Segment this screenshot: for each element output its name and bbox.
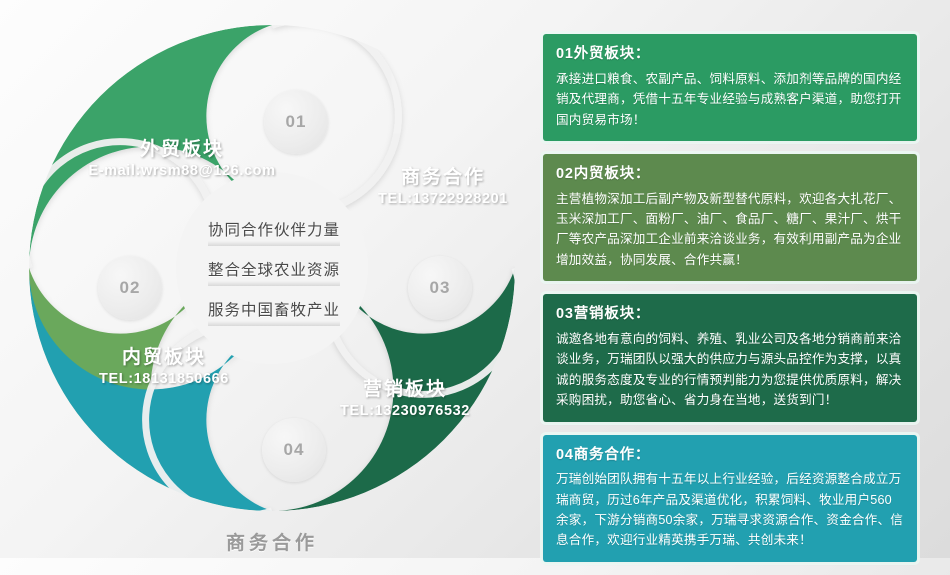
info-card-title: 01外贸板块： [556, 44, 904, 66]
pinwheel-diagram: 外贸板块 E-mail:wrsm88@126.com 商务合作 TEL:1372… [22, 18, 522, 518]
step-number-01[interactable]: 01 [264, 90, 328, 154]
info-card-title: 03营销板块： [556, 304, 904, 326]
step-number-02[interactable]: 02 [98, 256, 162, 320]
info-card-shangwu[interactable]: 04商务合作： 万瑞创始团队拥有十五年以上行业经验，后经资源整合成立万瑞商贸，历… [543, 435, 917, 562]
info-card-title: 04商务合作： [556, 445, 904, 467]
center-disc [176, 172, 368, 364]
info-card-neimao[interactable]: 02内贸板块： 主营植物深加工后副产物及新型替代原料，欢迎各大扎花厂、玉米深加工… [543, 154, 917, 281]
step-number-03[interactable]: 03 [408, 256, 472, 320]
info-card-body: 诚邀各地有意向的饲料、养殖、乳业公司及各地分销商前来洽谈业务，万瑞团队以强大的供… [556, 329, 904, 411]
info-card-body: 主营植物深加工后副产物及新型替代原料，欢迎各大扎花厂、玉米深加工厂、面粉厂、油厂… [556, 189, 904, 271]
info-card-yingxiao[interactable]: 03营销板块： 诚邀各地有意向的饲料、养殖、乳业公司及各地分销商前来洽谈业务，万… [543, 294, 917, 421]
info-card-waimao[interactable]: 01外贸板块： 承接进口粮食、农副产品、饲料原料、添加剂等品牌的国内经销及代理商… [543, 34, 917, 141]
diagram-footer-caption: 商务合作 [22, 528, 522, 555]
step-number-04[interactable]: 04 [262, 418, 326, 482]
infographic-stage: 外贸板块 E-mail:wrsm88@126.com 商务合作 TEL:1372… [0, 0, 950, 558]
info-card-list: 01外贸板块： 承接进口粮食、农副产品、饲料原料、添加剂等品牌的国内经销及代理商… [543, 34, 917, 575]
info-card-body: 万瑞创始团队拥有十五年以上行业经验，后经资源整合成立万瑞商贸，历过6年产品及渠道… [556, 469, 904, 551]
info-card-body: 承接进口粮食、农副产品、饲料原料、添加剂等品牌的国内经销及代理商，凭借十五年专业… [556, 69, 904, 130]
info-card-title: 02内贸板块： [556, 164, 904, 186]
